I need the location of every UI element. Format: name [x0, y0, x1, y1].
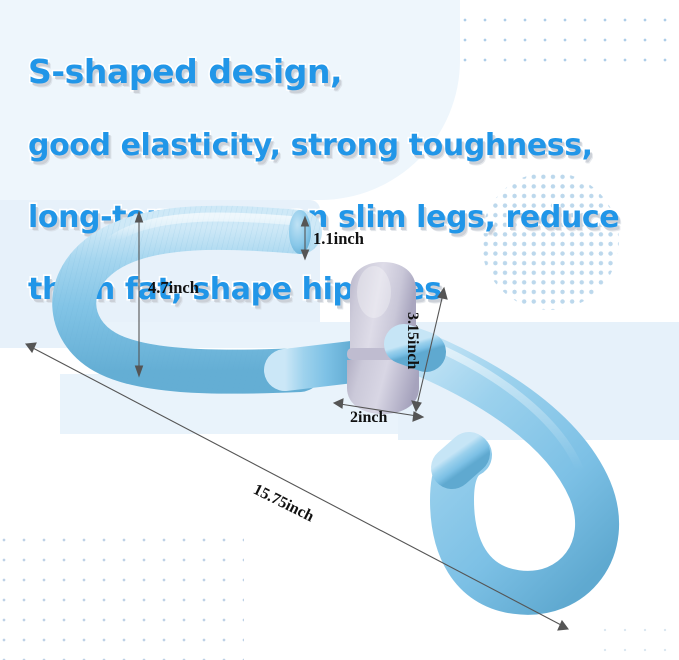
arrow-grip-width-left	[334, 399, 343, 408]
dimension-label-grip-width: 2inch	[350, 409, 387, 427]
upper-tube-end-cap	[289, 210, 311, 254]
hook-rib-texture	[74, 228, 300, 372]
arrow-grip-width-right	[413, 412, 423, 421]
lower-hook-tip	[452, 453, 469, 468]
arrow-tube-thickness-bottom	[302, 250, 309, 259]
dimension-label-grip-height: 3.15inch	[403, 312, 421, 369]
arrow-overall-length-end	[558, 621, 568, 630]
dimension-label-hook-height: 4.7inch	[148, 278, 199, 298]
arrow-overall-length-start	[26, 343, 36, 352]
arrow-grip-height-bottom	[412, 401, 421, 411]
product-infographic: S-shaped design, good elasticity, strong…	[0, 0, 679, 660]
mid-arm-tube	[285, 362, 352, 370]
grip-highlight	[357, 266, 391, 318]
dimension-label-tube-thickness: 1.1inch	[313, 229, 364, 249]
product-body	[74, 210, 597, 593]
product-illustration	[0, 0, 679, 660]
arrow-grip-height-top	[438, 288, 447, 299]
